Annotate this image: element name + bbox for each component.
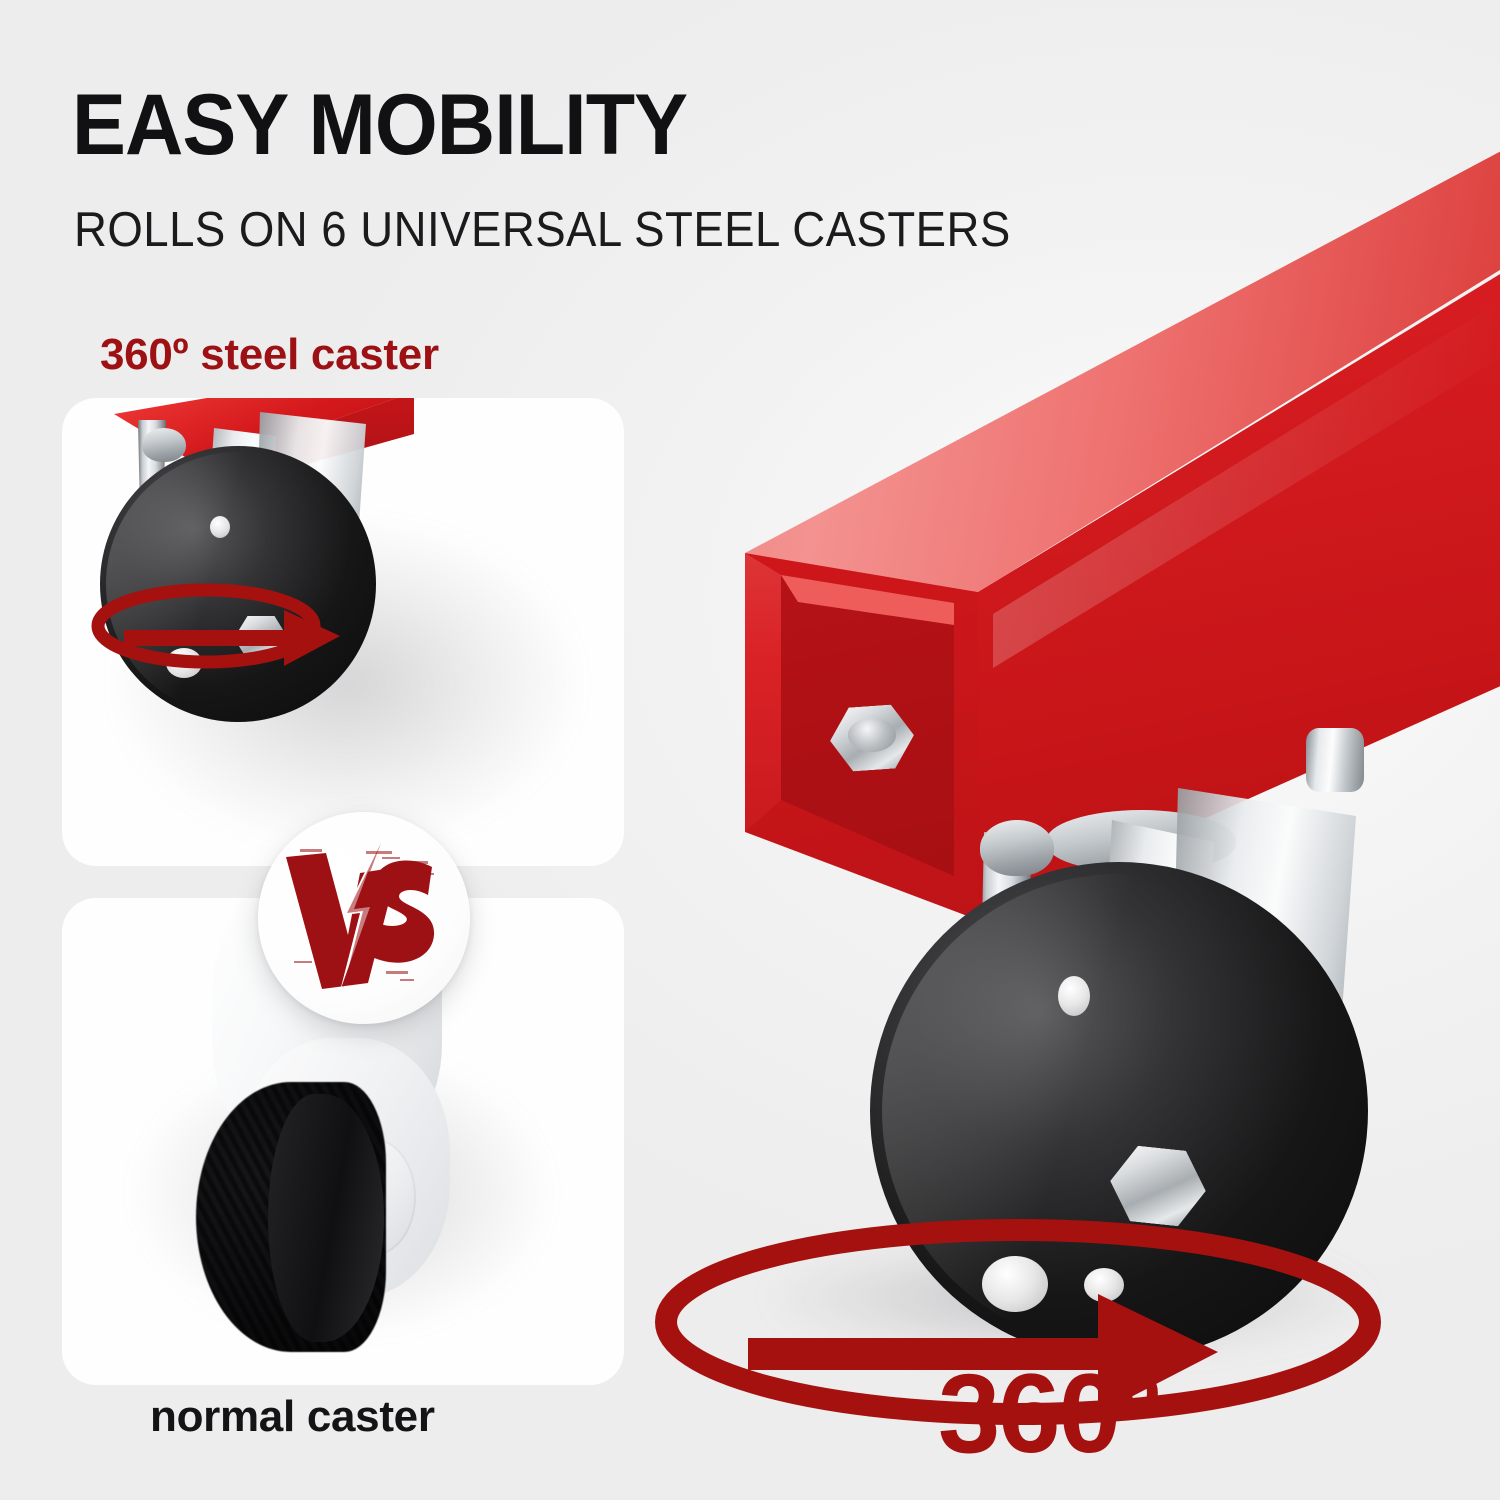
steel-caster-photo (62, 398, 624, 866)
rotation-arrow-icon (88, 574, 358, 682)
normal-caster-label: normal caster (150, 1392, 435, 1442)
chrome-stud (1306, 728, 1364, 792)
wheel-lightening-hole (210, 516, 230, 538)
hero-product-photo (648, 120, 1500, 1450)
steel-caster-label: 360º steel caster (100, 330, 439, 380)
wheel-lightening-hole (1058, 976, 1090, 1016)
vs-badge (258, 812, 470, 1024)
page-title: EASY MOBILITY (72, 84, 687, 167)
hero-360-callout: 360º (938, 1358, 1158, 1470)
steel-caster-card (62, 398, 624, 866)
swivel-cap (142, 428, 186, 462)
tire-sidewall (268, 1094, 384, 1342)
kingpin-cap (980, 820, 1054, 876)
hex-nut-bore (848, 718, 896, 752)
